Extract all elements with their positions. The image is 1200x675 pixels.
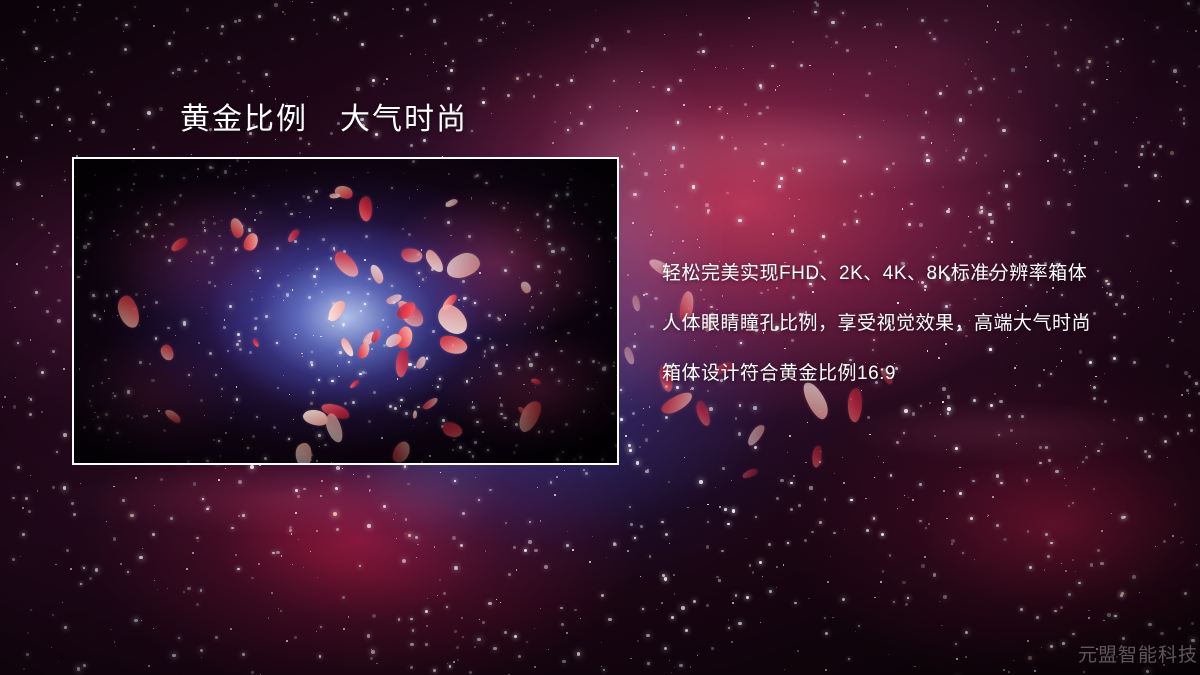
photo-vignette	[74, 159, 617, 463]
framed-photo	[72, 157, 619, 465]
description-line-3: 箱体设计符合黄金比例16:9	[662, 358, 1091, 385]
feature-description: 轻松完美实现FHD、2K、4K、8K标准分辨率箱体 人体眼睛瞳孔比例，享受视觉效…	[662, 258, 1091, 385]
page-title: 黄金比例 大气时尚	[180, 102, 468, 138]
watermark-label: 元盟智能科技	[1078, 640, 1198, 667]
description-line-2: 人体眼睛瞳孔比例，享受视觉效果，高端大气时尚	[662, 308, 1091, 335]
framed-photo-image	[74, 159, 617, 463]
slide-canvas: 黄金比例 大气时尚 轻松完美实现FHD、2K、4K、8K标准分辨率箱体 人体眼睛…	[0, 0, 1200, 675]
description-line-1: 轻松完美实现FHD、2K、4K、8K标准分辨率箱体	[662, 258, 1091, 285]
